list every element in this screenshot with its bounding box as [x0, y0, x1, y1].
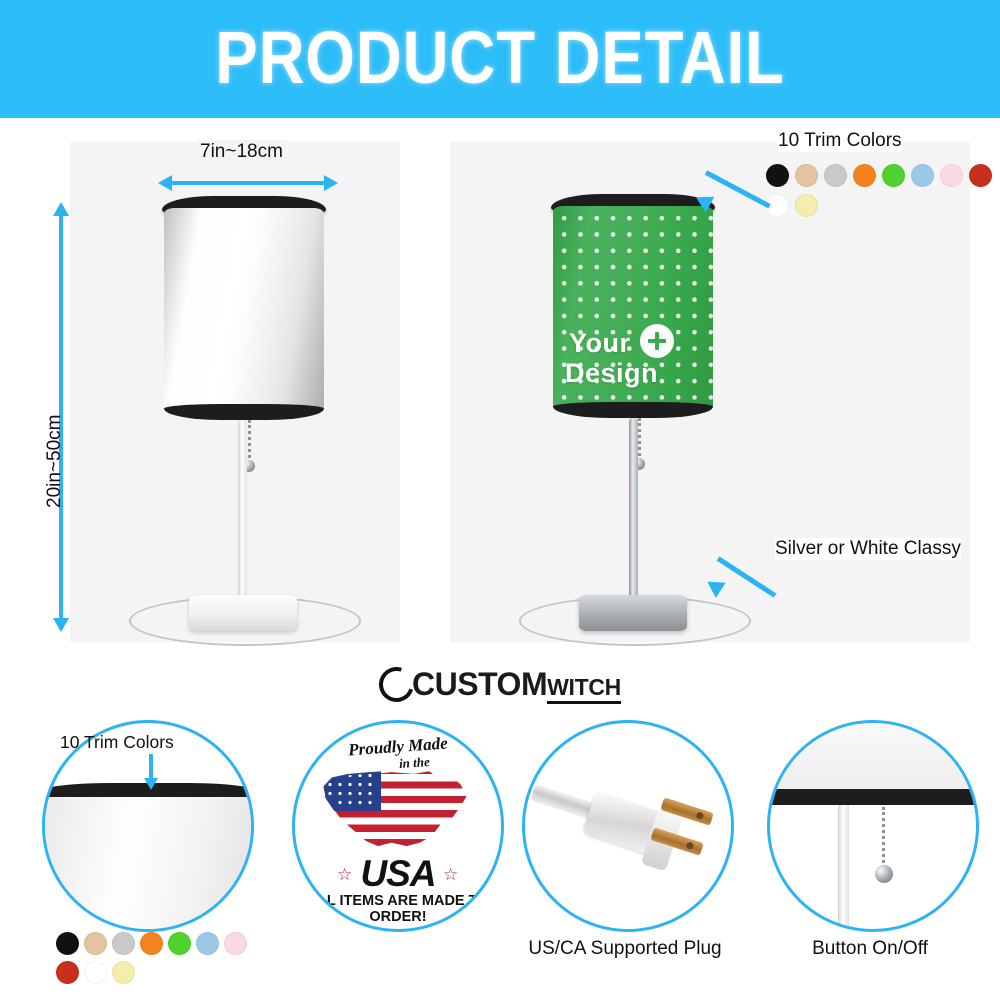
- swatch-black[interactable]: [56, 932, 79, 955]
- pull-chain[interactable]: [638, 418, 644, 462]
- base-finish-label: Silver or White Classy: [775, 538, 961, 560]
- trim-colors-callout: 10 Trim Colors: [60, 732, 174, 753]
- lamp-white-shade: [164, 208, 324, 414]
- plug-blade-hole: [685, 841, 694, 850]
- callout-arrow-line: [149, 754, 153, 780]
- lamp-green-base: [579, 595, 687, 631]
- feature-button-onoff: Button On/Off: [745, 716, 995, 1000]
- usa-line-3: USA: [295, 853, 501, 895]
- swatch-white[interactable]: [84, 961, 107, 984]
- swatch-tan[interactable]: [795, 164, 818, 187]
- swatch-tan[interactable]: [84, 932, 107, 955]
- lamp-green-pole: [629, 418, 638, 602]
- made-in-usa-badge: Proudly Made in the ☆ USA ☆ ALL ITEMS AR…: [292, 720, 504, 932]
- trim-colors-title: 10 Trim Colors: [778, 130, 902, 152]
- closeup-shade: [42, 797, 254, 932]
- height-arrow-top: [53, 202, 69, 216]
- plug-label: US/CA Supported Plug: [500, 938, 750, 960]
- closeup-shade: [767, 720, 979, 795]
- usa-star-right-icon: ☆: [443, 865, 458, 885]
- swatch-green[interactable]: [168, 932, 191, 955]
- swatch-orange[interactable]: [140, 932, 163, 955]
- swatch-yellow[interactable]: [795, 194, 818, 217]
- button-label: Button On/Off: [745, 938, 995, 960]
- feature-plug: US/CA Supported Plug: [500, 716, 750, 1000]
- lamp-white-trim-bottom: [164, 404, 324, 420]
- plug-blade-hole: [695, 811, 704, 820]
- usa-line-4: ALL ITEMS ARE MADE TO ORDER!: [295, 893, 501, 925]
- brand-name-primary: CUSTOM: [412, 666, 547, 702]
- swatch-gray[interactable]: [824, 164, 847, 187]
- lamp-green-shade: Your Design: [553, 206, 713, 412]
- shade-gloss: [553, 206, 713, 412]
- brand-name-secondary: WITCH: [547, 674, 621, 704]
- trim-colors-swatches-bottom[interactable]: [56, 932, 272, 984]
- height-arrow-bottom: [53, 618, 69, 632]
- page-title: PRODUCT DETAIL: [70, 16, 930, 100]
- pull-chain[interactable]: [882, 807, 888, 869]
- usa-line-2: in the: [398, 754, 430, 772]
- button-onoff-closeup: [767, 720, 979, 932]
- swatch-orange[interactable]: [853, 164, 876, 187]
- width-arrow-left: [158, 175, 172, 191]
- trim-colors-swatches[interactable]: [766, 164, 1000, 217]
- swatch-gray[interactable]: [112, 932, 135, 955]
- swatch-light-blue[interactable]: [196, 932, 219, 955]
- callout-arrow-head: [144, 778, 158, 790]
- plug-closeup: [522, 720, 734, 932]
- pull-chain[interactable]: [248, 420, 254, 464]
- width-measure-line: [170, 181, 326, 185]
- swatch-light-blue[interactable]: [911, 164, 934, 187]
- lamp-white-base: [189, 595, 297, 631]
- swatch-black[interactable]: [766, 164, 789, 187]
- closeup-trim: [767, 789, 979, 805]
- swatch-pink[interactable]: [224, 932, 247, 955]
- swatch-red[interactable]: [56, 961, 79, 984]
- width-measure-label: 7in~18cm: [196, 140, 287, 164]
- lamp-green-trim-bottom: [553, 402, 713, 418]
- brand-logo: CUSTOMWITCH: [0, 666, 1000, 708]
- header-banner: PRODUCT DETAIL: [0, 0, 1000, 118]
- swatch-yellow[interactable]: [112, 961, 135, 984]
- usa-flag-stars: [325, 771, 377, 807]
- swatch-red[interactable]: [969, 164, 992, 187]
- lamp-white-pole: [238, 420, 247, 602]
- height-measure-label: 20in~50cm: [44, 415, 66, 508]
- feature-trim-colors: 10 Trim Colors: [20, 716, 270, 1000]
- width-arrow-right: [324, 175, 338, 191]
- product-stage: 7in~18cm 20in~50cm Your Design: [0, 118, 1000, 660]
- swatch-pink[interactable]: [940, 164, 963, 187]
- shade-gloss: [164, 208, 324, 414]
- pull-chain-ball[interactable]: [875, 865, 893, 883]
- closeup-pole: [838, 805, 849, 932]
- feature-made-in-usa: Proudly Made in the ☆ USA ☆ ALL ITEMS AR…: [270, 716, 520, 1000]
- swatch-green[interactable]: [882, 164, 905, 187]
